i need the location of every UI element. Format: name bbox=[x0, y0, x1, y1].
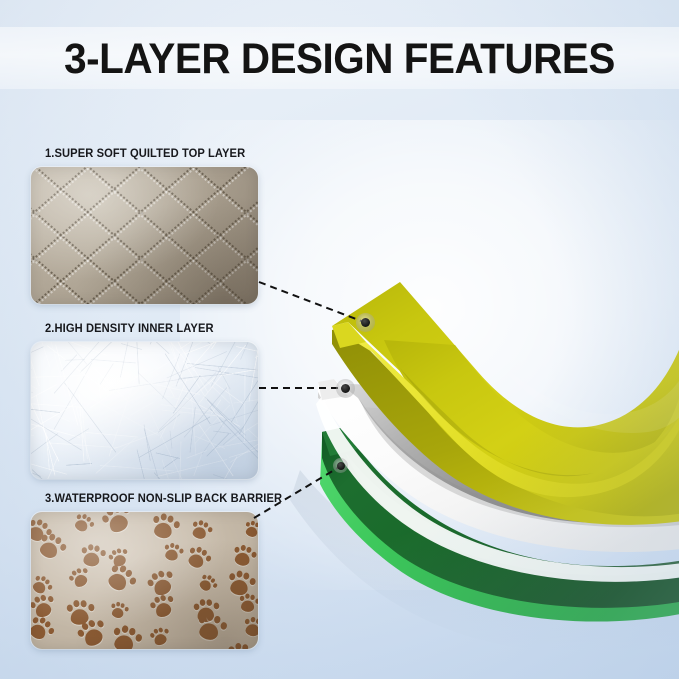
fibre-sheen bbox=[31, 342, 258, 479]
feature-block-3: 3.WATERPROOF NON-SLIP BACK BARRIER bbox=[31, 493, 289, 649]
feature-label-3: 3.WATERPROOF NON-SLIP BACK BARRIER bbox=[45, 493, 282, 505]
fibre-batting-swatch[interactable] bbox=[31, 342, 258, 479]
paw-print-texture bbox=[31, 512, 258, 649]
paw-sheen bbox=[31, 512, 258, 649]
leader-line-1 bbox=[259, 282, 364, 322]
infographic-canvas: 3-LAYER DESIGN FEATURES 1.SUPER SOFT QUI… bbox=[0, 0, 679, 679]
layer-marker-1[interactable] bbox=[356, 313, 375, 332]
feature-block-1: 1.SUPER SOFT QUILTED TOP LAYER bbox=[31, 148, 258, 304]
feature-label-1: 1.SUPER SOFT QUILTED TOP LAYER bbox=[45, 148, 252, 160]
white-inner-sheet bbox=[316, 379, 679, 582]
quilted-taupe-fabric-swatch[interactable] bbox=[31, 167, 258, 304]
quilted-fabric-texture bbox=[31, 167, 258, 304]
layer-marker-3[interactable] bbox=[333, 458, 348, 473]
layer-marker-2[interactable] bbox=[336, 379, 355, 398]
paw-print-backing-swatch[interactable] bbox=[31, 512, 258, 649]
feature-label-2: 2.HIGH DENSITY INNER LAYER bbox=[45, 323, 252, 335]
feature-block-2: 2.HIGH DENSITY INNER LAYER bbox=[31, 323, 258, 479]
yellow-top-sheet bbox=[332, 282, 679, 525]
page-title: 3-LAYER DESIGN FEATURES bbox=[20, 30, 658, 88]
green-back-sheet bbox=[290, 428, 679, 652]
quilt-sheen bbox=[31, 167, 258, 304]
fibre-batting-texture bbox=[31, 342, 258, 479]
